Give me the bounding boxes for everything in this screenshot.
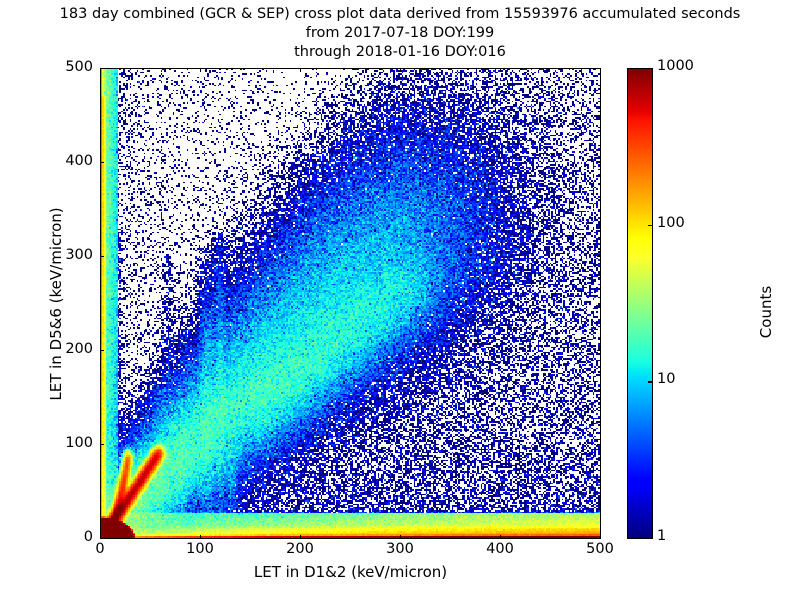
x-tick-top-200 xyxy=(300,68,301,72)
y-tick-right-300 xyxy=(597,256,601,257)
x-tick-label-500: 500 xyxy=(565,541,635,557)
page-title: 183 day combined (GCR & SEP) cross plot … xyxy=(0,5,800,62)
colorbar-tick-label-1: 1 xyxy=(657,528,666,544)
plot-area xyxy=(100,68,601,539)
colorbar-tick-100 xyxy=(648,225,653,226)
y-tick-500 xyxy=(100,68,104,69)
x-tick-400 xyxy=(500,535,501,539)
x-tick-200 xyxy=(300,535,301,539)
title-line-2: from 2017-07-18 DOY:199 xyxy=(0,24,800,43)
colorbar-tick-label-100: 100 xyxy=(657,215,685,231)
y-tick-right-100 xyxy=(597,444,601,445)
figure-canvas: 183 day combined (GCR & SEP) cross plot … xyxy=(0,0,800,600)
x-tick-label-400: 400 xyxy=(465,541,535,557)
y-tick-0 xyxy=(100,538,104,539)
y-tick-right-0 xyxy=(597,538,601,539)
x-tick-top-300 xyxy=(400,68,401,72)
x-tick-100 xyxy=(200,535,201,539)
y-tick-label-0: 0 xyxy=(23,529,93,545)
x-tick-top-400 xyxy=(500,68,501,72)
x-tick-label-200: 200 xyxy=(265,541,335,557)
title-line-1: 183 day combined (GCR & SEP) cross plot … xyxy=(0,5,800,24)
x-tick-label-300: 300 xyxy=(365,541,435,557)
colorbar-label: Counts xyxy=(757,192,775,432)
x-tick-300 xyxy=(400,535,401,539)
y-tick-400 xyxy=(100,162,104,163)
x-tick-top-100 xyxy=(200,68,201,72)
y-tick-right-400 xyxy=(597,162,601,163)
colorbar-tick-label-1000: 1000 xyxy=(657,58,694,74)
colorbar-tick-label-10: 10 xyxy=(657,371,675,387)
y-tick-right-500 xyxy=(597,68,601,69)
density-heatmap xyxy=(101,69,600,538)
x-tick-label-100: 100 xyxy=(165,541,235,557)
colorbar-tick-10 xyxy=(648,381,653,382)
x-axis-label: LET in D1&2 (keV/micron) xyxy=(100,563,601,581)
colorbar-gradient xyxy=(628,69,652,538)
y-tick-300 xyxy=(100,256,104,257)
y-axis-label: LET in D5&6 (keV/micron) xyxy=(47,144,65,464)
y-tick-200 xyxy=(100,350,104,351)
y-tick-100 xyxy=(100,444,104,445)
colorbar xyxy=(627,68,653,539)
y-tick-right-200 xyxy=(597,350,601,351)
y-tick-label-500: 500 xyxy=(23,59,93,75)
